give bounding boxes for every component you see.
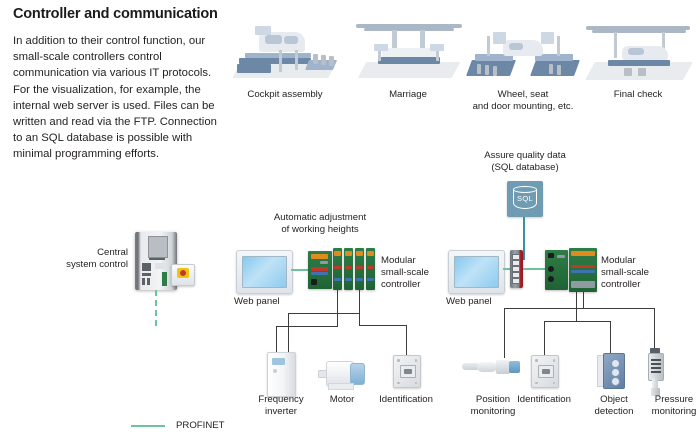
controller-right-label-line1: Modular <box>601 255 673 267</box>
sql-database-node[interactable]: SQL <box>507 181 543 217</box>
wire-right-bus-1 <box>504 308 654 309</box>
photo-caption-line2: and door mounting, etc. <box>463 101 583 113</box>
pressure-monitoring-label-line2: monitoring <box>638 406 700 418</box>
profinet-dashed-link <box>155 290 157 326</box>
wire-right-b <box>583 292 584 308</box>
profinet-legend-label: PROFINET <box>176 420 266 432</box>
wire-left-b <box>359 290 360 313</box>
io-slice-1-left[interactable] <box>333 248 342 290</box>
intro-paragraph: In addition to their control function, o… <box>13 33 218 163</box>
wire-left-drop-identification <box>406 325 407 357</box>
wire-right-drop-pressure <box>654 308 655 352</box>
camera-icon <box>400 365 416 378</box>
database-icon: SQL <box>513 186 537 212</box>
identification-device-left[interactable] <box>393 355 421 388</box>
sensor-tip <box>509 361 520 373</box>
identification-device-right[interactable] <box>531 355 559 388</box>
estop-button-icon <box>180 270 186 276</box>
io-block-right[interactable] <box>569 248 597 292</box>
object-detection-face <box>603 353 625 389</box>
frequency-inverter-label-line1: Frequency <box>248 394 314 406</box>
controller-left-label-line3: controller <box>381 279 451 291</box>
cabinet-display <box>148 236 168 258</box>
frequency-inverter-label-line2: inverter <box>248 406 314 418</box>
wire-left-a <box>337 290 338 327</box>
identification-left-label: Identification <box>370 394 442 406</box>
object-detection-device[interactable] <box>597 353 623 387</box>
io-slice-3-left[interactable] <box>355 248 364 290</box>
photo-caption: Cockpit assembly <box>225 89 345 101</box>
wire-right-drop-identification <box>544 321 545 355</box>
inverter-knob <box>273 369 277 373</box>
wire-right-drop-position <box>504 308 505 358</box>
object-detection-label-line1: Object <box>583 394 645 406</box>
page-title: Controller and communication <box>13 6 233 22</box>
wire-left-bus-3 <box>359 325 407 326</box>
frequency-inverter-device[interactable] <box>267 352 296 397</box>
web-panel-left-label: Web panel <box>234 296 304 308</box>
motor-fan-cover <box>350 363 365 385</box>
wire-left-join <box>359 313 360 325</box>
io-slice-4-left[interactable] <box>366 248 375 290</box>
modular-controller-left-base[interactable] <box>308 251 332 289</box>
profinet-link-switch-controller <box>523 268 546 270</box>
inverter-display <box>272 358 285 365</box>
photo-wheel-seat-door-mounting: Wheel, seat and door mounting, etc. <box>463 14 583 112</box>
controller-left-label-line2: small-scale <box>381 267 451 279</box>
position-monitoring-label-line2: monitoring <box>456 406 530 418</box>
motor-device[interactable] <box>318 358 366 388</box>
object-detection-label-line2: detection <box>583 406 645 418</box>
photo-final-check: Final check <box>578 14 698 101</box>
wire-left-bus-2 <box>288 313 360 314</box>
photo-cockpit-assembly: Cockpit assembly <box>225 14 345 101</box>
pressure-monitoring-label-line1: Pressure <box>638 394 700 406</box>
web-panel-right[interactable] <box>448 250 505 294</box>
photo-caption: Wheel, seat <box>463 89 583 101</box>
sql-label-line2: (SQL database) <box>465 162 585 174</box>
photo-caption: Marriage <box>348 89 468 101</box>
wheel-seat-door-illustration <box>463 14 583 86</box>
central-control-label-line2: system control <box>42 259 128 271</box>
photo-caption: Final check <box>578 89 698 101</box>
final-check-illustration <box>578 14 698 86</box>
controller-right-label-line2: small-scale <box>601 267 673 279</box>
web-panel-left[interactable] <box>236 250 293 294</box>
sql-label-line1: Assure quality data <box>465 150 585 162</box>
web-panel-right-label: Web panel <box>446 296 516 308</box>
pressure-monitoring-device[interactable] <box>648 348 662 396</box>
left-branch-heading-line1: Automatic adjustment <box>246 212 394 224</box>
sensor-nut <box>496 360 510 374</box>
wire-right-drop-object <box>610 321 611 355</box>
sql-connection-line <box>523 217 525 260</box>
pressure-body <box>648 353 664 381</box>
motor-foot <box>328 383 354 390</box>
identification-right-label: Identification <box>508 394 580 406</box>
wire-right-bus-2 <box>544 321 610 322</box>
sql-badge-text: SQL <box>513 194 537 203</box>
sensor-barrel <box>477 362 497 372</box>
controller-left-label-line1: Modular <box>381 255 451 267</box>
ethernet-switch[interactable] <box>510 250 523 288</box>
wire-right-a <box>576 292 577 321</box>
wire-left-bus-1 <box>276 326 338 327</box>
position-monitoring-device[interactable] <box>462 358 520 376</box>
io-slice-2-left[interactable] <box>344 248 353 290</box>
controller-right-label-line3: controller <box>601 279 673 291</box>
central-control-label-line1: Central <box>60 247 128 259</box>
left-branch-heading-line2: of working heights <box>246 224 394 236</box>
marriage-illustration <box>348 14 468 86</box>
motor-label: Motor <box>315 394 369 406</box>
modular-controller-right-base[interactable] <box>545 250 568 290</box>
emergency-stop-device[interactable] <box>171 264 195 286</box>
photo-marriage: Marriage <box>348 14 468 101</box>
profinet-legend-swatch <box>131 425 165 427</box>
cockpit-assembly-illustration <box>225 14 345 86</box>
profinet-link-webpanel-left <box>291 269 309 271</box>
camera-icon <box>538 365 554 378</box>
